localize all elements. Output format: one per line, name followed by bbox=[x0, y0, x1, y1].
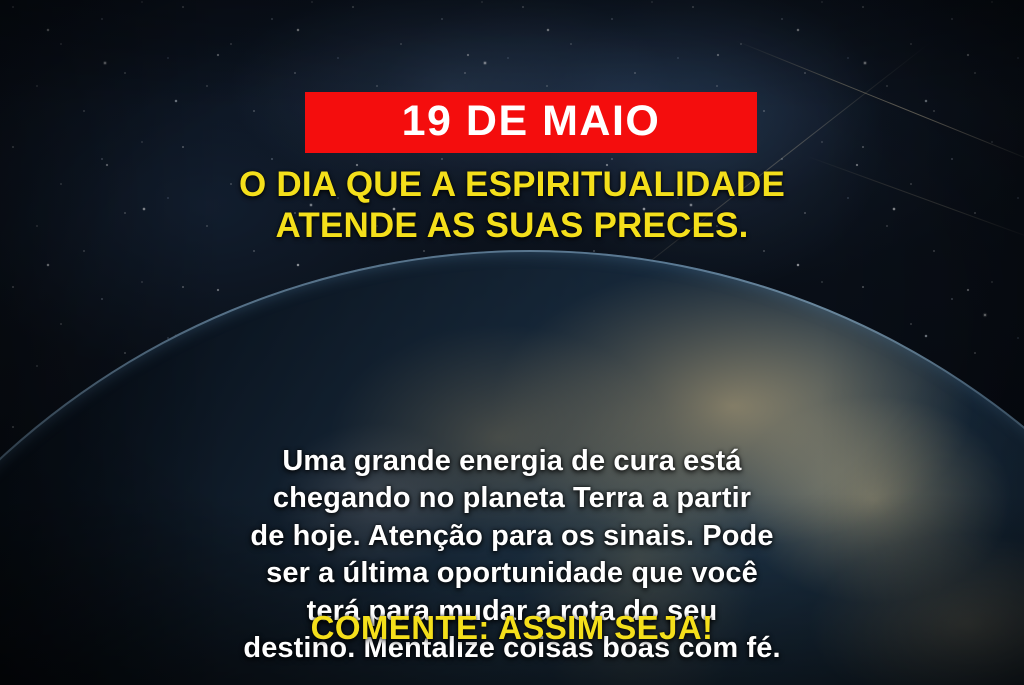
body-line: ser a última oportunidade que você bbox=[52, 555, 972, 592]
date-banner: 19 DE MAIO bbox=[305, 92, 757, 153]
date-banner-text: 19 DE MAIO bbox=[402, 100, 661, 143]
headline-line: O DIA QUE A ESPIRITUALIDADE bbox=[40, 165, 984, 206]
headline-line: ATENDE AS SUAS PRECES. bbox=[40, 206, 984, 247]
headline: O DIA QUE A ESPIRITUALIDADE ATENDE AS SU… bbox=[0, 165, 1024, 246]
body-line: chegando no planeta Terra a partir bbox=[52, 480, 972, 517]
poster-content: 19 DE MAIO O DIA QUE A ESPIRITUALIDADE A… bbox=[0, 0, 1024, 685]
body-line: de hoje. Atenção para os sinais. Pode bbox=[52, 518, 972, 555]
poster-image: 19 DE MAIO O DIA QUE A ESPIRITUALIDADE A… bbox=[0, 0, 1024, 685]
body-line: Uma grande energia de cura está bbox=[52, 443, 972, 480]
call-to-action-text: COMENTE: ASSIM SEJA! bbox=[0, 611, 1024, 644]
